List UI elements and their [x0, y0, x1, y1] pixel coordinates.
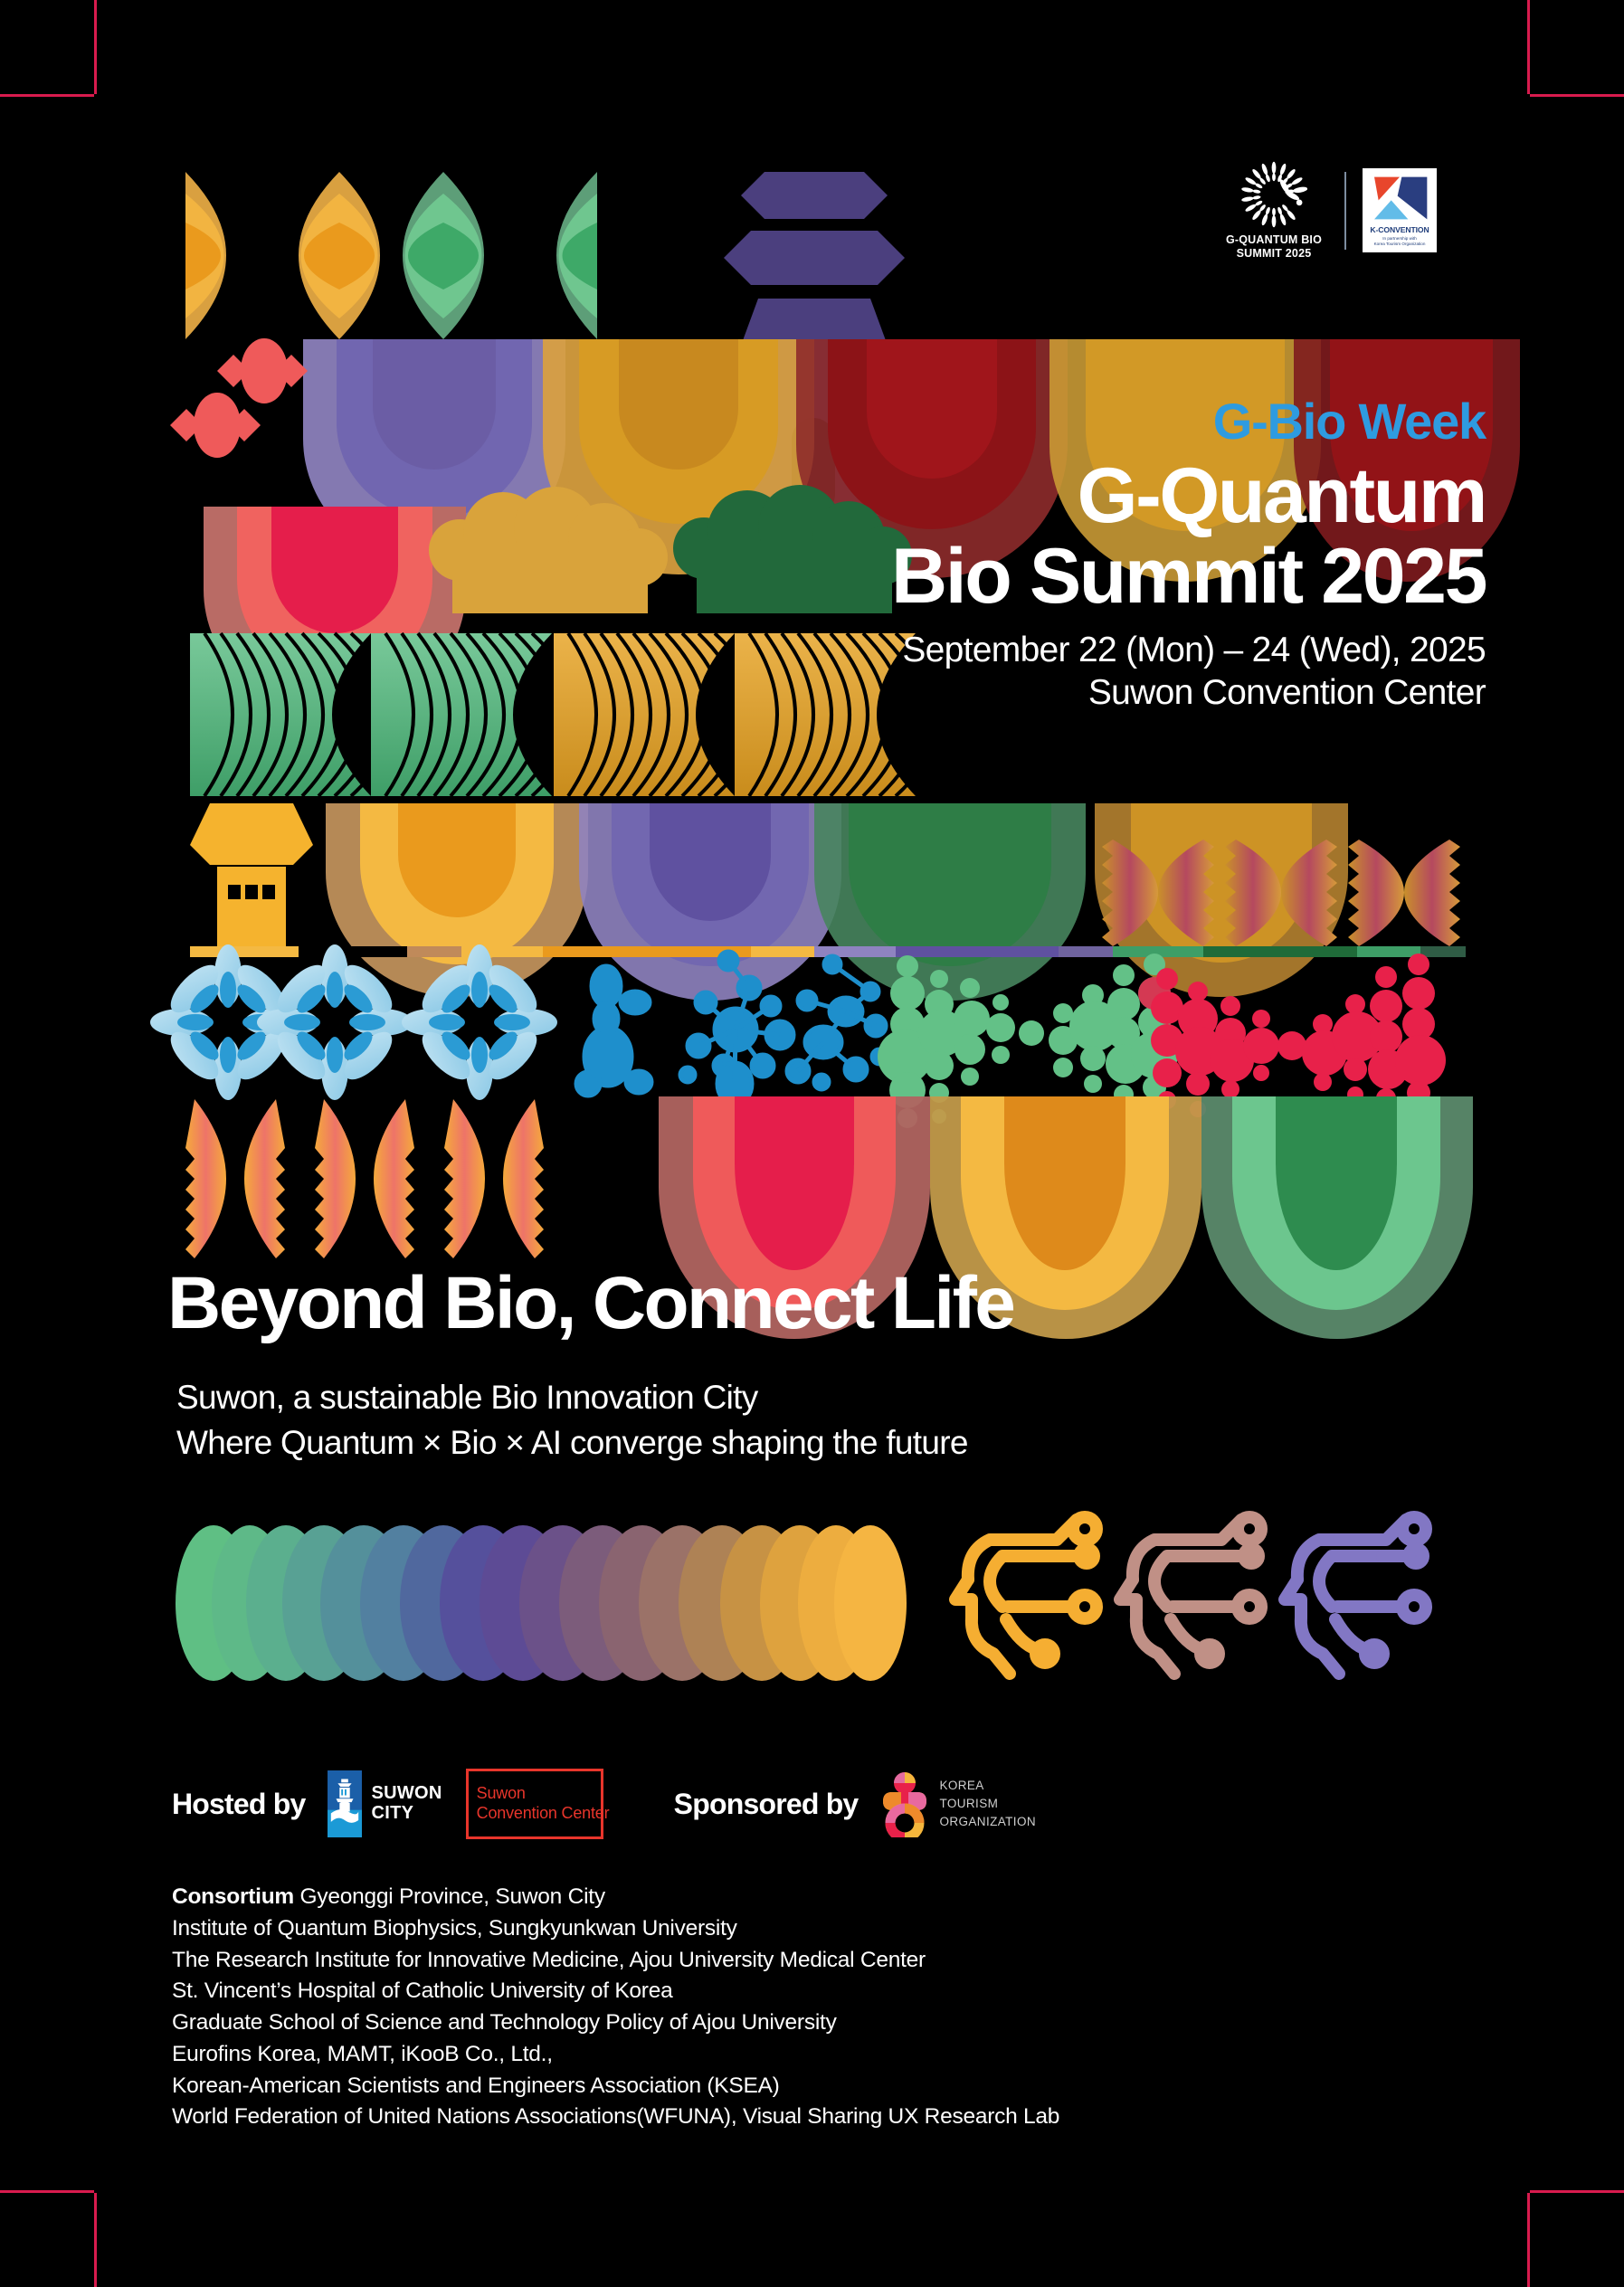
sponsored-by-label: Sponsored by [674, 1788, 859, 1821]
slogan-sub: Suwon, a sustainable Bio Innovation City… [176, 1375, 968, 1466]
event-dates: September 22 (Mon) – 24 (Wed), 2025 [891, 629, 1486, 672]
slogan-main: Beyond Bio, Connect Life [167, 1267, 1013, 1341]
ai-head-icon-orange [955, 1517, 1097, 1674]
consortium-member: Graduate School of Science and Technolog… [172, 2007, 1059, 2039]
event-meta: September 22 (Mon) – 24 (Wed), 2025 Suwo… [891, 629, 1486, 715]
watchtower-shape [190, 803, 313, 957]
poster-canvas: G-QUANTUM BIO SUMMIT 2025 K-CONVENTION I… [0, 0, 1624, 2287]
consortium-lead: Gyeonggi Province, Suwon City [300, 1884, 605, 1909]
hosted-by-label: Hosted by [172, 1788, 306, 1821]
korea-tourism-organization-logo: KOREA TOURISM ORGANIZATION [879, 1770, 1036, 1837]
title-line-1: G-Quantum [891, 456, 1486, 536]
gquantum-logo-line2: SUMMIT 2025 [1226, 247, 1322, 261]
flower-motifs [150, 944, 557, 1100]
k-convention-sub2: Korea Tourism Organization [1368, 242, 1431, 247]
consortium-member: Institute of Quantum Biophysics, Sungkyu… [172, 1913, 1059, 1945]
ai-head-icon-purple [1285, 1517, 1426, 1674]
k-convention-sub: In partnership with Korea Tourism Organi… [1368, 236, 1431, 247]
consortium-member: St. Vincent’s Hospital of Catholic Unive… [172, 1976, 1059, 2007]
consortium-block: Consortium Gyeonggi Province, Suwon City… [172, 1882, 1059, 2133]
partners-row: Hosted by SUWON CITY [172, 1769, 1036, 1839]
consortium-member: World Federation of United Nations Assoc… [172, 2102, 1059, 2133]
consortium-member: Korean-American Scientists and Engineers… [172, 2071, 1059, 2102]
consortium-member-list: Institute of Quantum Biophysics, Sungkyu… [172, 1913, 1059, 2133]
gquantum-bio-summit-logo: G-QUANTUM BIO SUMMIT 2025 [1220, 161, 1328, 261]
striped-shells [190, 633, 954, 796]
eyebrow-g-bio-week: G-Bio Week [891, 396, 1486, 447]
logo-divider [1344, 172, 1346, 250]
radial-burst-icon [1240, 161, 1307, 228]
top-logo-lockup: G-QUANTUM BIO SUMMIT 2025 K-CONVENTION I… [1220, 161, 1437, 261]
kto-text: KOREA TOURISM ORGANIZATION [939, 1777, 1036, 1832]
suwon-convention-center-logo: Suwon Convention Center [466, 1769, 603, 1839]
scc-line1: Suwon [477, 1784, 610, 1804]
gquantum-logo-text: G-QUANTUM BIO SUMMIT 2025 [1226, 233, 1322, 261]
gquantum-logo-line1: G-QUANTUM BIO [1226, 233, 1322, 247]
k-letter-icon [1368, 175, 1431, 222]
suwon-city-logo: SUWON CITY [328, 1770, 442, 1837]
consortium-member: Eurofins Korea, MAMT, iKooB Co., Ltd., [172, 2039, 1059, 2071]
headline-block: G-Bio Week G-Quantum Bio Summit 2025 Sep… [891, 396, 1486, 715]
suwon-city-line2: CITY [372, 1804, 442, 1824]
suwon-city-text: SUWON CITY [372, 1784, 442, 1823]
kto-line2: TOURISM [939, 1795, 1036, 1813]
slogan-sub-line1: Suwon, a sustainable Bio Innovation City [176, 1375, 968, 1420]
bowtie-group-gold [185, 172, 380, 339]
scc-line2: Convention Center [477, 1804, 610, 1824]
k-convention-logo: K-CONVENTION In partnership with Korea T… [1363, 168, 1437, 252]
consortium-label: Consortium [172, 1884, 294, 1909]
ellipse-stack-motif [176, 1525, 907, 1681]
title-line-2: Bio Summit 2025 [891, 536, 1486, 617]
bowtie-group-green [403, 172, 597, 339]
kto-figure-icon [879, 1770, 930, 1837]
scc-text: Suwon Convention Center [477, 1784, 610, 1824]
suwon-city-crest-icon [328, 1770, 362, 1837]
k-convention-name: K-CONVENTION [1368, 225, 1431, 234]
ai-head-icon-rose [1120, 1517, 1261, 1674]
consortium-member: The Research Institute for Innovative Me… [172, 1945, 1059, 1977]
sponsor-group: Sponsored by [674, 1770, 1036, 1837]
flame-motifs [185, 1099, 544, 1258]
slogan-sub-line2: Where Quantum × Bio × AI converge shapin… [176, 1420, 968, 1466]
petal-flecks-red [170, 338, 308, 458]
suwon-city-line1: SUWON [372, 1784, 442, 1804]
kto-line1: KOREA [939, 1777, 1036, 1795]
consortium-lead-line: Consortium Gyeonggi Province, Suwon City [172, 1882, 1059, 1913]
kto-line3: ORGANIZATION [939, 1813, 1036, 1831]
event-venue: Suwon Convention Center [891, 671, 1486, 715]
ai-circuit-icons [955, 1517, 1426, 1674]
